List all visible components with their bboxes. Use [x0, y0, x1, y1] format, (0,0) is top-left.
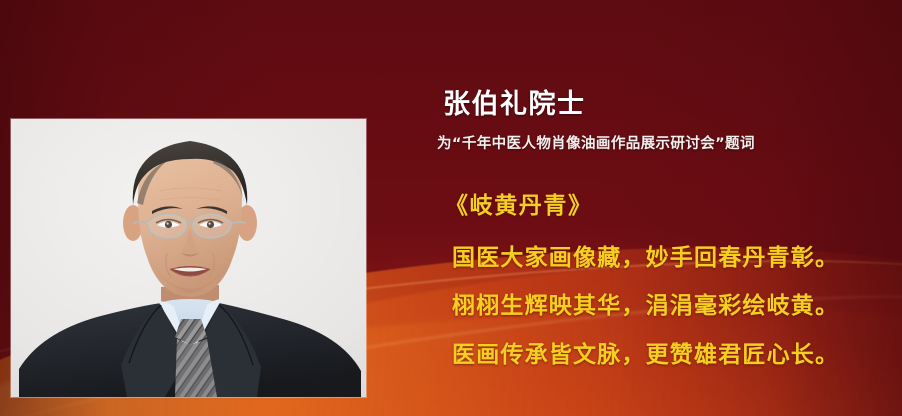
poem-line-3: 医画传承皆文脉，更赞雄君匠心长。	[452, 335, 839, 369]
subtitle: 为“千年中医人物肖像油画作品展示研讨会”题词	[437, 132, 755, 153]
poem-title: 《岐黄丹青》	[445, 186, 593, 220]
text-column: 张伯礼院士 为“千年中医人物肖像油画作品展示研讨会”题词 《岐黄丹青》 国医大家…	[430, 0, 900, 416]
portrait-illustration	[11, 119, 366, 397]
page-title: 张伯礼院士	[443, 82, 586, 121]
poem-line-2: 栩栩生辉映其华，涓涓毫彩绘岐黄。	[452, 286, 839, 320]
banner-root: 张伯礼院士 为“千年中医人物肖像油画作品展示研讨会”题词 《岐黄丹青》 国医大家…	[0, 0, 902, 416]
poem-line-1: 国医大家画像藏，妙手回春丹青彰。	[452, 238, 839, 272]
portrait-photo	[11, 119, 366, 397]
